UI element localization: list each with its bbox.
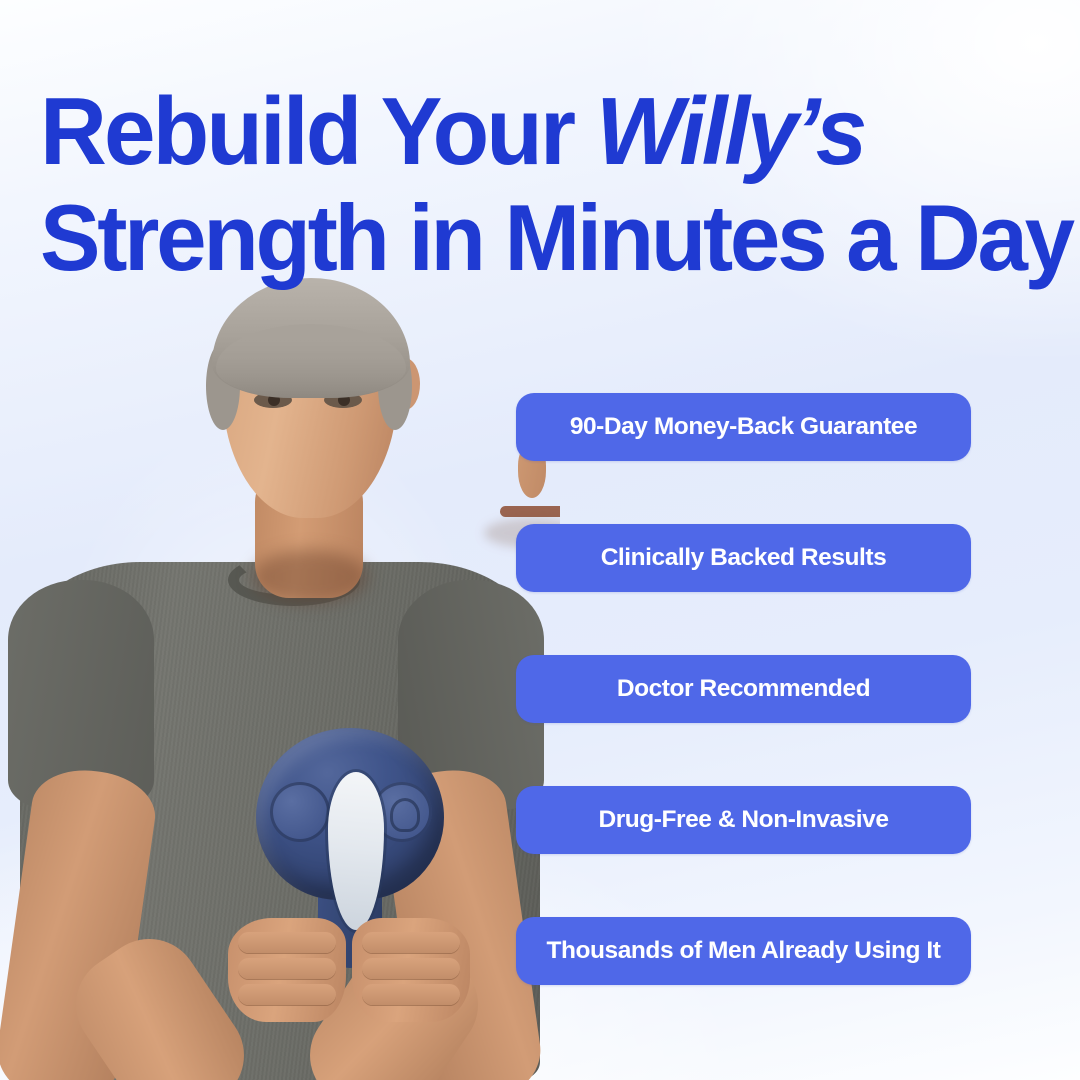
- hand-right: [352, 918, 470, 1022]
- hand-left: [228, 918, 346, 1022]
- page-title: Rebuild Your Willy’s Strength in Minutes…: [40, 84, 1005, 284]
- headline-line-2: Strength in Minutes a Day: [40, 191, 1005, 284]
- headline-emphasis: Willy’s: [596, 78, 864, 185]
- headline-line-1-text: Rebuild Your: [40, 78, 596, 185]
- finger-l1: [238, 932, 336, 953]
- finger-r1: [362, 932, 460, 953]
- benefit-pill-list: 90-Day Money-Back Guarantee Clinically B…: [516, 393, 971, 985]
- neck-shadow: [252, 550, 368, 604]
- device-pad-left: [270, 782, 330, 842]
- finger-l2: [238, 958, 336, 979]
- hero-photo-subject: [0, 250, 560, 1080]
- benefit-pill-clinically-backed[interactable]: Clinically Backed Results: [516, 524, 971, 592]
- benefit-pill-money-back[interactable]: 90-Day Money-Back Guarantee: [516, 393, 971, 461]
- promo-ad-canvas: Rebuild Your Willy’s Strength in Minutes…: [0, 0, 1080, 1080]
- benefit-pill-doctor-recommended[interactable]: Doctor Recommended: [516, 655, 971, 723]
- benefit-pill-social-proof[interactable]: Thousands of Men Already Using It: [516, 917, 971, 985]
- finger-r3: [362, 984, 460, 1005]
- headline-line-1: Rebuild Your Willy’s: [40, 84, 1005, 179]
- benefit-pill-drug-free[interactable]: Drug-Free & Non-Invasive: [516, 786, 971, 854]
- finger-l3: [238, 984, 336, 1005]
- finger-r2: [362, 958, 460, 979]
